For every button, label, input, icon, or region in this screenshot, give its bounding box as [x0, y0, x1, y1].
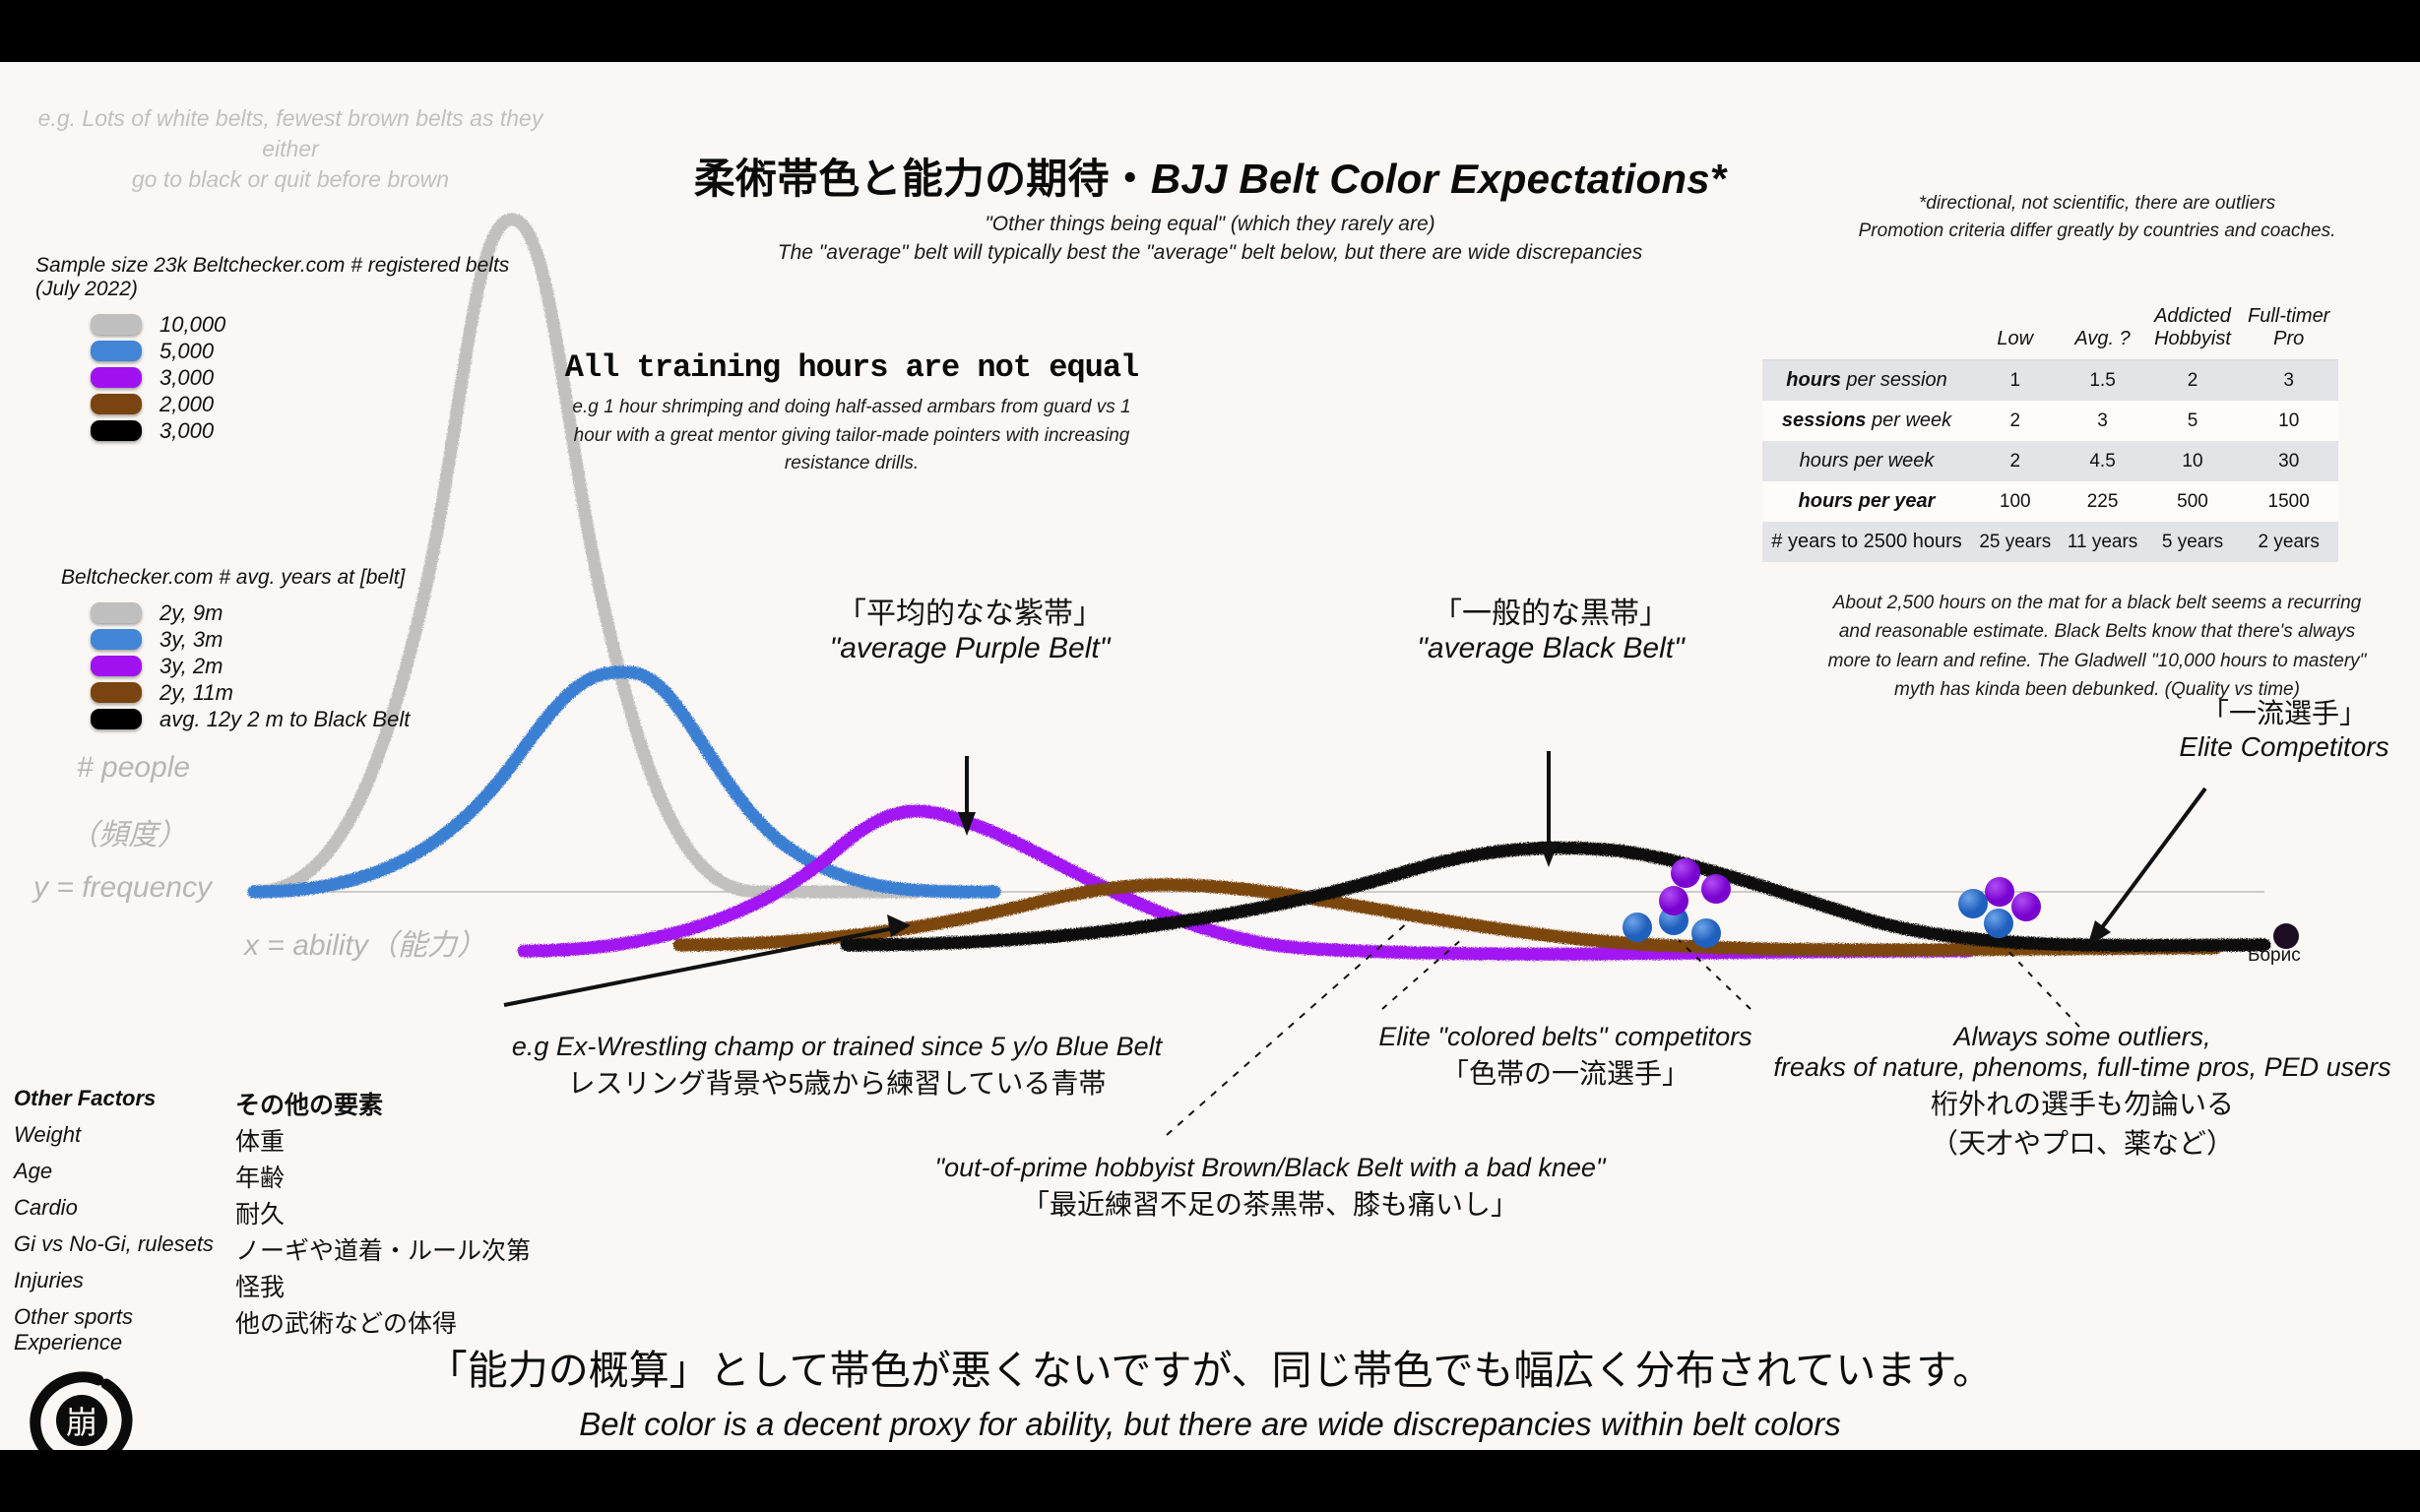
cell: 1500: [2239, 481, 2338, 522]
enso-logo-icon: 崩: [28, 1366, 136, 1450]
annotation-out-of-prime-jp: 「最近練習不足の茶黒帯、膝も痛いし」: [886, 1183, 1654, 1223]
annotation-blue-outlier: e.g Ex-Wrestling champ or trained since …: [492, 1032, 1181, 1102]
table-note-line3: more to learn and refine. The Gladwell "…: [1802, 647, 2392, 675]
legend-years-item-blue: 3y, 3m: [91, 626, 410, 653]
training-hours-line1: e.g 1 hour shrimping and doing half-asse…: [551, 394, 1152, 422]
table-header-row: Low Avg. ? Addicted Hobbyist Full-timer …: [1762, 296, 2338, 360]
swatch-purple-icon: [91, 367, 142, 388]
legend-count-purple: 3,000: [159, 365, 214, 391]
table-row: # years to 2500 hours 25 years 11 years …: [1762, 522, 2338, 562]
cell: 2: [2146, 360, 2240, 402]
curve-purple-belt: [524, 811, 1969, 954]
swatch-black-icon: [91, 709, 142, 729]
annotation-elite-colored-jp: 「色帯の一流選手」: [1359, 1052, 1772, 1092]
legend-count-blue: 5,000: [159, 339, 214, 364]
cell: 100: [1971, 481, 2060, 522]
row-label-years-to-2500: # years to 2500 hours: [1762, 522, 1971, 562]
cell: 5 years: [2146, 522, 2240, 562]
swatch-white-icon: [91, 314, 142, 335]
elite-colored-belts-cluster: [1623, 858, 1731, 948]
cell: 2 years: [2239, 522, 2338, 562]
training-hours-line3: resistance drills.: [551, 450, 1152, 478]
poster-body: e.g. Lots of white belts, fewest brown b…: [0, 62, 2420, 1450]
training-hours-table: Low Avg. ? Addicted Hobbyist Full-timer …: [1762, 296, 2338, 562]
cell: 1.5: [2060, 360, 2146, 402]
x-axis-label: x = ability（能力）: [244, 920, 486, 964]
legend-item-brown: 2,000: [91, 391, 509, 417]
training-hours-box: All training hours are not equal e.g 1 h…: [551, 349, 1152, 478]
swatch-brown-icon: [91, 394, 142, 414]
swatch-blue-icon: [91, 629, 142, 650]
cell: 1: [1971, 360, 2060, 402]
callout-black-jp: 「一般的な黒帯」: [1359, 589, 1743, 632]
outlier-cluster: [1958, 877, 2041, 938]
annotation-outliers-jp1: 桁外れの選手も勿論いる: [1752, 1083, 2412, 1122]
annotation-outliers-en2: freaks of nature, phenoms, full-time pro…: [1752, 1052, 2412, 1083]
annotation-outliers: Always some outliers, freaks of nature, …: [1752, 1022, 2412, 1162]
factor-jp: 耐久: [235, 1195, 285, 1230]
cell: 4.5: [2060, 441, 2146, 481]
cell: 25 years: [1971, 522, 2060, 562]
disclaimer-line1: *directional, not scientific, there are …: [1831, 190, 2363, 218]
annotation-elite-colored-en: Elite "colored belts" competitors: [1359, 1022, 1772, 1052]
legend-item-blue: 5,000: [91, 338, 509, 364]
other-factors-list: Other Factors その他の要素 Weight体重 Age年齢 Card…: [14, 1086, 531, 1341]
legend-count-black: 3,000: [159, 418, 214, 444]
legend-item-black: 3,000: [91, 417, 509, 444]
infographic-canvas: e.g. Lots of white belts, fewest brown b…: [0, 0, 2420, 1512]
legend-years-white: 2y, 9m: [159, 600, 223, 626]
factor-en: Weight: [14, 1122, 235, 1148]
cell: 3: [2060, 401, 2146, 441]
swatch-brown-icon: [91, 682, 142, 703]
legend-count-brown: 2,000: [159, 392, 214, 417]
factor-jp: 怪我: [235, 1268, 285, 1303]
callout-elite-jp: 「一流選手」: [2156, 692, 2412, 731]
table-row: hours per year 100 225 500 1500: [1762, 481, 2338, 522]
factor-jp: 年齢: [235, 1159, 285, 1194]
cell: 11 years: [2060, 522, 2146, 562]
legend-counts-title-line2: (July 2022): [35, 278, 509, 301]
table-row: sessions per week 2 3 5 10: [1762, 401, 2338, 441]
cell: 10: [2146, 441, 2240, 481]
disclaimer-line2: Promotion criteria differ greatly by cou…: [1831, 218, 2363, 245]
curve-black-belt: [847, 848, 2264, 945]
factor-en: Gi vs No-Gi, rulesets: [14, 1231, 235, 1257]
table-note-line2: and reasonable estimate. Black Belts kno…: [1802, 617, 2392, 646]
list-item: Weight体重: [14, 1122, 531, 1159]
cell: 2: [1971, 441, 2060, 481]
cell: 500: [2146, 481, 2240, 522]
legend-years-brown: 2y, 11m: [159, 680, 233, 706]
boris-label: Борис: [2248, 945, 2301, 967]
legend-item-purple: 3,000: [91, 364, 509, 391]
legend-count-white: 10,000: [159, 312, 225, 338]
conclusion-jp: 「能力の概算」として帯色が悪くないですが、同じ帯色でも幅広く分布されています。: [0, 1337, 2420, 1396]
th-addicted-hobbyist: Addicted Hobbyist: [2146, 296, 2240, 360]
list-item: Other sports Experience他の武術などの体得: [14, 1304, 531, 1341]
legend-years-title: Beltchecker.com # avg. years at [belt]: [61, 566, 410, 590]
table-row: hours per week 2 4.5 10 30: [1762, 441, 2338, 481]
list-item: Age年齢: [14, 1159, 531, 1195]
legend-years: Beltchecker.com # avg. years at [belt] 2…: [61, 566, 410, 732]
legend-years-item-purple: 3y, 2m: [91, 653, 410, 679]
callout-purple-en: "average Purple Belt": [778, 632, 1162, 665]
list-item: Cardio耐久: [14, 1195, 531, 1231]
page-title-en: BJJ Belt Color Expectations*: [1151, 156, 1726, 202]
legend-years-item-brown: 2y, 11m: [91, 679, 410, 706]
annotation-out-of-prime-en: "out-of-prime hobbyist Brown/Black Belt …: [886, 1153, 1654, 1183]
brand-logo: 崩: [28, 1366, 134, 1450]
y-axis-people-label-jp: （頻度）: [69, 810, 187, 853]
factor-jp: 体重: [235, 1122, 285, 1158]
swatch-white-icon: [91, 602, 142, 623]
other-factors-heading: Other Factors その他の要素: [14, 1086, 531, 1122]
legend-item-white: 10,000: [91, 311, 509, 338]
annotation-blue-outlier-jp: レスリング背景や5歳から練習している青帯: [492, 1062, 1181, 1102]
conclusion-en: Belt color is a decent proxy for ability…: [0, 1406, 2420, 1443]
row-label-hours-per-session: hours per session: [1762, 360, 1971, 402]
y-axis-label: y = frequency: [33, 871, 212, 905]
other-factors-heading-jp: その他の要素: [235, 1086, 383, 1121]
swatch-blue-icon: [91, 341, 142, 361]
callout-average-purple-belt: 「平均的なな紫帯」 "average Purple Belt": [778, 589, 1162, 665]
y-axis-people-label: # people: [77, 751, 190, 785]
th-full-timer-pro: Full-timer Pro: [2239, 296, 2338, 360]
legend-counts-title-line1: Sample size 23k Beltchecker.com # regist…: [35, 254, 509, 278]
row-label-hours-per-week: hours per week: [1762, 441, 1971, 481]
annotation-outliers-en1: Always some outliers,: [1752, 1022, 2412, 1052]
disclaimer: *directional, not scientific, there are …: [1831, 190, 2363, 244]
list-item: Gi vs No-Gi, rulesetsノーギや道着・ルール次第: [14, 1231, 531, 1268]
cell: 2: [1971, 401, 2060, 441]
th-avg: Avg. ?: [2060, 296, 2146, 360]
table-note-line1: About 2,500 hours on the mat for a black…: [1802, 589, 2392, 617]
cell: 30: [2239, 441, 2338, 481]
annotation-elite-colored-belts: Elite "colored belts" competitors 「色帯の一流…: [1359, 1022, 1772, 1092]
legend-counts: Sample size 23k Beltchecker.com # regist…: [35, 254, 509, 444]
factor-en: Age: [14, 1159, 235, 1184]
annotation-blue-outlier-en: e.g Ex-Wrestling champ or trained since …: [492, 1032, 1181, 1062]
factor-jp: 他の武術などの体得: [235, 1304, 457, 1340]
cell: 225: [2060, 481, 2146, 522]
table-row: hours per session 1 1.5 2 3: [1762, 360, 2338, 402]
curve-brown-belt: [679, 885, 2215, 950]
cell: 3: [2239, 360, 2338, 402]
callout-elite-en: Elite Competitors: [2156, 731, 2412, 763]
callout-elite-competitors: 「一流選手」 Elite Competitors: [2156, 692, 2412, 763]
other-factors-heading-en: Other Factors: [14, 1086, 235, 1111]
swatch-black-icon: [91, 420, 142, 441]
page-title-jp: 柔術帯色と能力の期待・: [694, 156, 1151, 202]
factor-jp: ノーギや道着・ルール次第: [235, 1231, 531, 1267]
list-item: Injuries怪我: [14, 1268, 531, 1304]
annotation-out-of-prime: "out-of-prime hobbyist Brown/Black Belt …: [886, 1153, 1654, 1223]
legend-years-black: avg. 12y 2 m to Black Belt: [159, 707, 410, 732]
th-low: Low: [1971, 296, 2060, 360]
training-hours-heading: All training hours are not equal: [551, 349, 1152, 386]
logo-glyph: 崩: [66, 1405, 97, 1440]
legend-years-blue: 3y, 3m: [159, 627, 223, 653]
callout-purple-jp: 「平均的なな紫帯」: [778, 589, 1162, 632]
row-label-hours-per-year: hours per year: [1762, 481, 1971, 522]
th-blank: [1762, 296, 1971, 360]
legend-years-item-white: 2y, 9m: [91, 599, 410, 626]
row-label-sessions-per-week: sessions per week: [1762, 401, 1971, 441]
cell: 10: [2239, 401, 2338, 441]
table-note: About 2,500 hours on the mat for a black…: [1802, 589, 2392, 705]
factor-en: Injuries: [14, 1268, 235, 1293]
callout-average-black-belt: 「一般的な黒帯」 "average Black Belt": [1359, 589, 1743, 665]
cell: 5: [2146, 401, 2240, 441]
factor-en: Cardio: [14, 1195, 235, 1221]
annotation-outliers-jp2: （天才やプロ、薬など）: [1752, 1122, 2412, 1162]
callout-black-en: "average Black Belt": [1359, 632, 1743, 665]
legend-years-purple: 3y, 2m: [159, 654, 223, 679]
training-hours-line2: hour with a great mentor giving tailor-m…: [551, 422, 1152, 451]
swatch-purple-icon: [91, 656, 142, 676]
legend-years-item-black: avg. 12y 2 m to Black Belt: [91, 706, 410, 732]
